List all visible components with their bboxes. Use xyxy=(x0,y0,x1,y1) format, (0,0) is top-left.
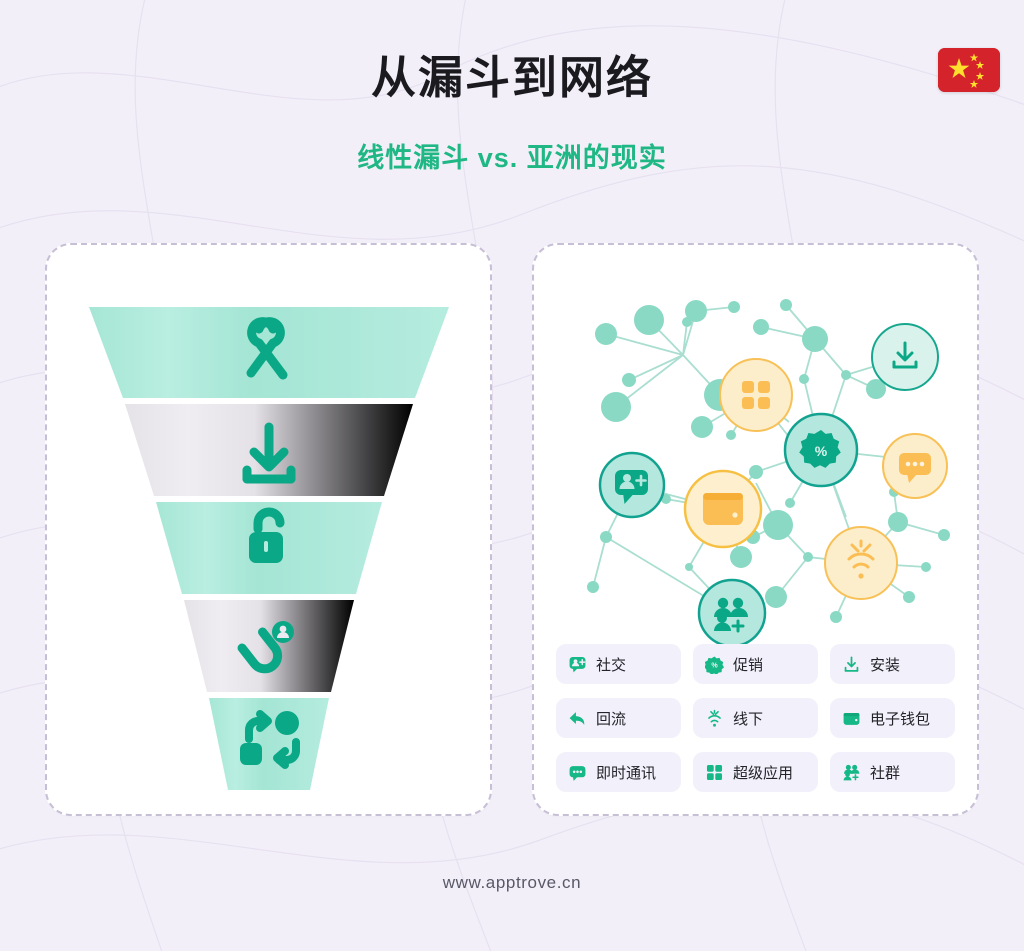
network-node-offline xyxy=(825,527,897,599)
social-user-bubble-icon xyxy=(568,655,587,674)
network-node-super-app xyxy=(720,359,792,431)
e-wallet-icon xyxy=(842,709,861,728)
network-panel: % xyxy=(532,243,979,816)
network-node-social xyxy=(600,453,664,517)
network-diagram: % xyxy=(546,267,966,657)
network-node-community xyxy=(699,580,765,646)
legend-chip-super-app[interactable]: 超级应用 xyxy=(693,752,818,792)
e-wallet-icon xyxy=(703,493,743,525)
svg-text:%: % xyxy=(711,661,718,669)
network-legend: 社交 % 促销 xyxy=(556,644,955,792)
footer-url: www.apptrove.cn xyxy=(0,873,1024,893)
linear-funnel-diagram xyxy=(84,303,454,793)
install-download-icon xyxy=(842,655,861,674)
funnel-stage-install xyxy=(125,404,413,496)
legend-chip-label: 促销 xyxy=(733,654,763,675)
legend-chip-label: 超级应用 xyxy=(733,762,793,783)
legend-chip-return[interactable]: 回流 xyxy=(556,698,681,738)
legend-chip-label: 线下 xyxy=(733,708,763,729)
instant-message-icon xyxy=(568,763,587,782)
legend-chip-e-wallet[interactable]: 电子钱包 xyxy=(830,698,955,738)
legend-chip-social[interactable]: 社交 xyxy=(556,644,681,684)
funnel-stage-loyalty xyxy=(209,698,329,790)
offline-nfc-signal-icon xyxy=(705,709,724,728)
legend-chip-label: 回流 xyxy=(596,708,626,729)
legend-chip-label: 电子钱包 xyxy=(870,708,930,729)
legend-chip-label: 社交 xyxy=(596,654,626,675)
community-group-icon xyxy=(842,763,861,782)
legend-chip-label: 社群 xyxy=(870,762,900,783)
network-node-promo: % xyxy=(785,414,857,486)
return-back-arrow-icon xyxy=(568,709,587,728)
funnel-panel xyxy=(45,243,492,816)
legend-chip-instant-message[interactable]: 即时通讯 xyxy=(556,752,681,792)
infographic-page: 从漏斗到网络 线性漏斗 vs. 亚洲的现实 xyxy=(0,0,1024,951)
page-subtitle: 线性漏斗 vs. 亚洲的现实 xyxy=(0,136,1024,175)
china-flag-icon xyxy=(938,48,1000,92)
legend-chip-promo[interactable]: % 促销 xyxy=(693,644,818,684)
svg-text:%: % xyxy=(814,443,827,459)
network-node-wallet xyxy=(685,471,761,547)
super-app-grid-icon xyxy=(705,763,724,782)
legend-chip-community[interactable]: 社群 xyxy=(830,752,955,792)
funnel-stage-awareness xyxy=(89,307,449,398)
legend-chip-offline[interactable]: 线下 xyxy=(693,698,818,738)
panels-row: % xyxy=(0,243,1024,816)
legend-chip-label: 即时通讯 xyxy=(596,762,656,783)
network-node-install xyxy=(872,324,938,390)
promo-percent-badge-icon: % xyxy=(705,655,724,674)
funnel-stage-retention xyxy=(184,600,354,692)
header: 从漏斗到网络 线性漏斗 vs. 亚洲的现实 xyxy=(0,0,1024,175)
network-node-instant-message xyxy=(883,434,947,498)
funnel-stage-activation xyxy=(156,502,382,594)
legend-chip-label: 安装 xyxy=(870,654,900,675)
page-title: 从漏斗到网络 xyxy=(0,52,1024,104)
legend-chip-install[interactable]: 安装 xyxy=(830,644,955,684)
